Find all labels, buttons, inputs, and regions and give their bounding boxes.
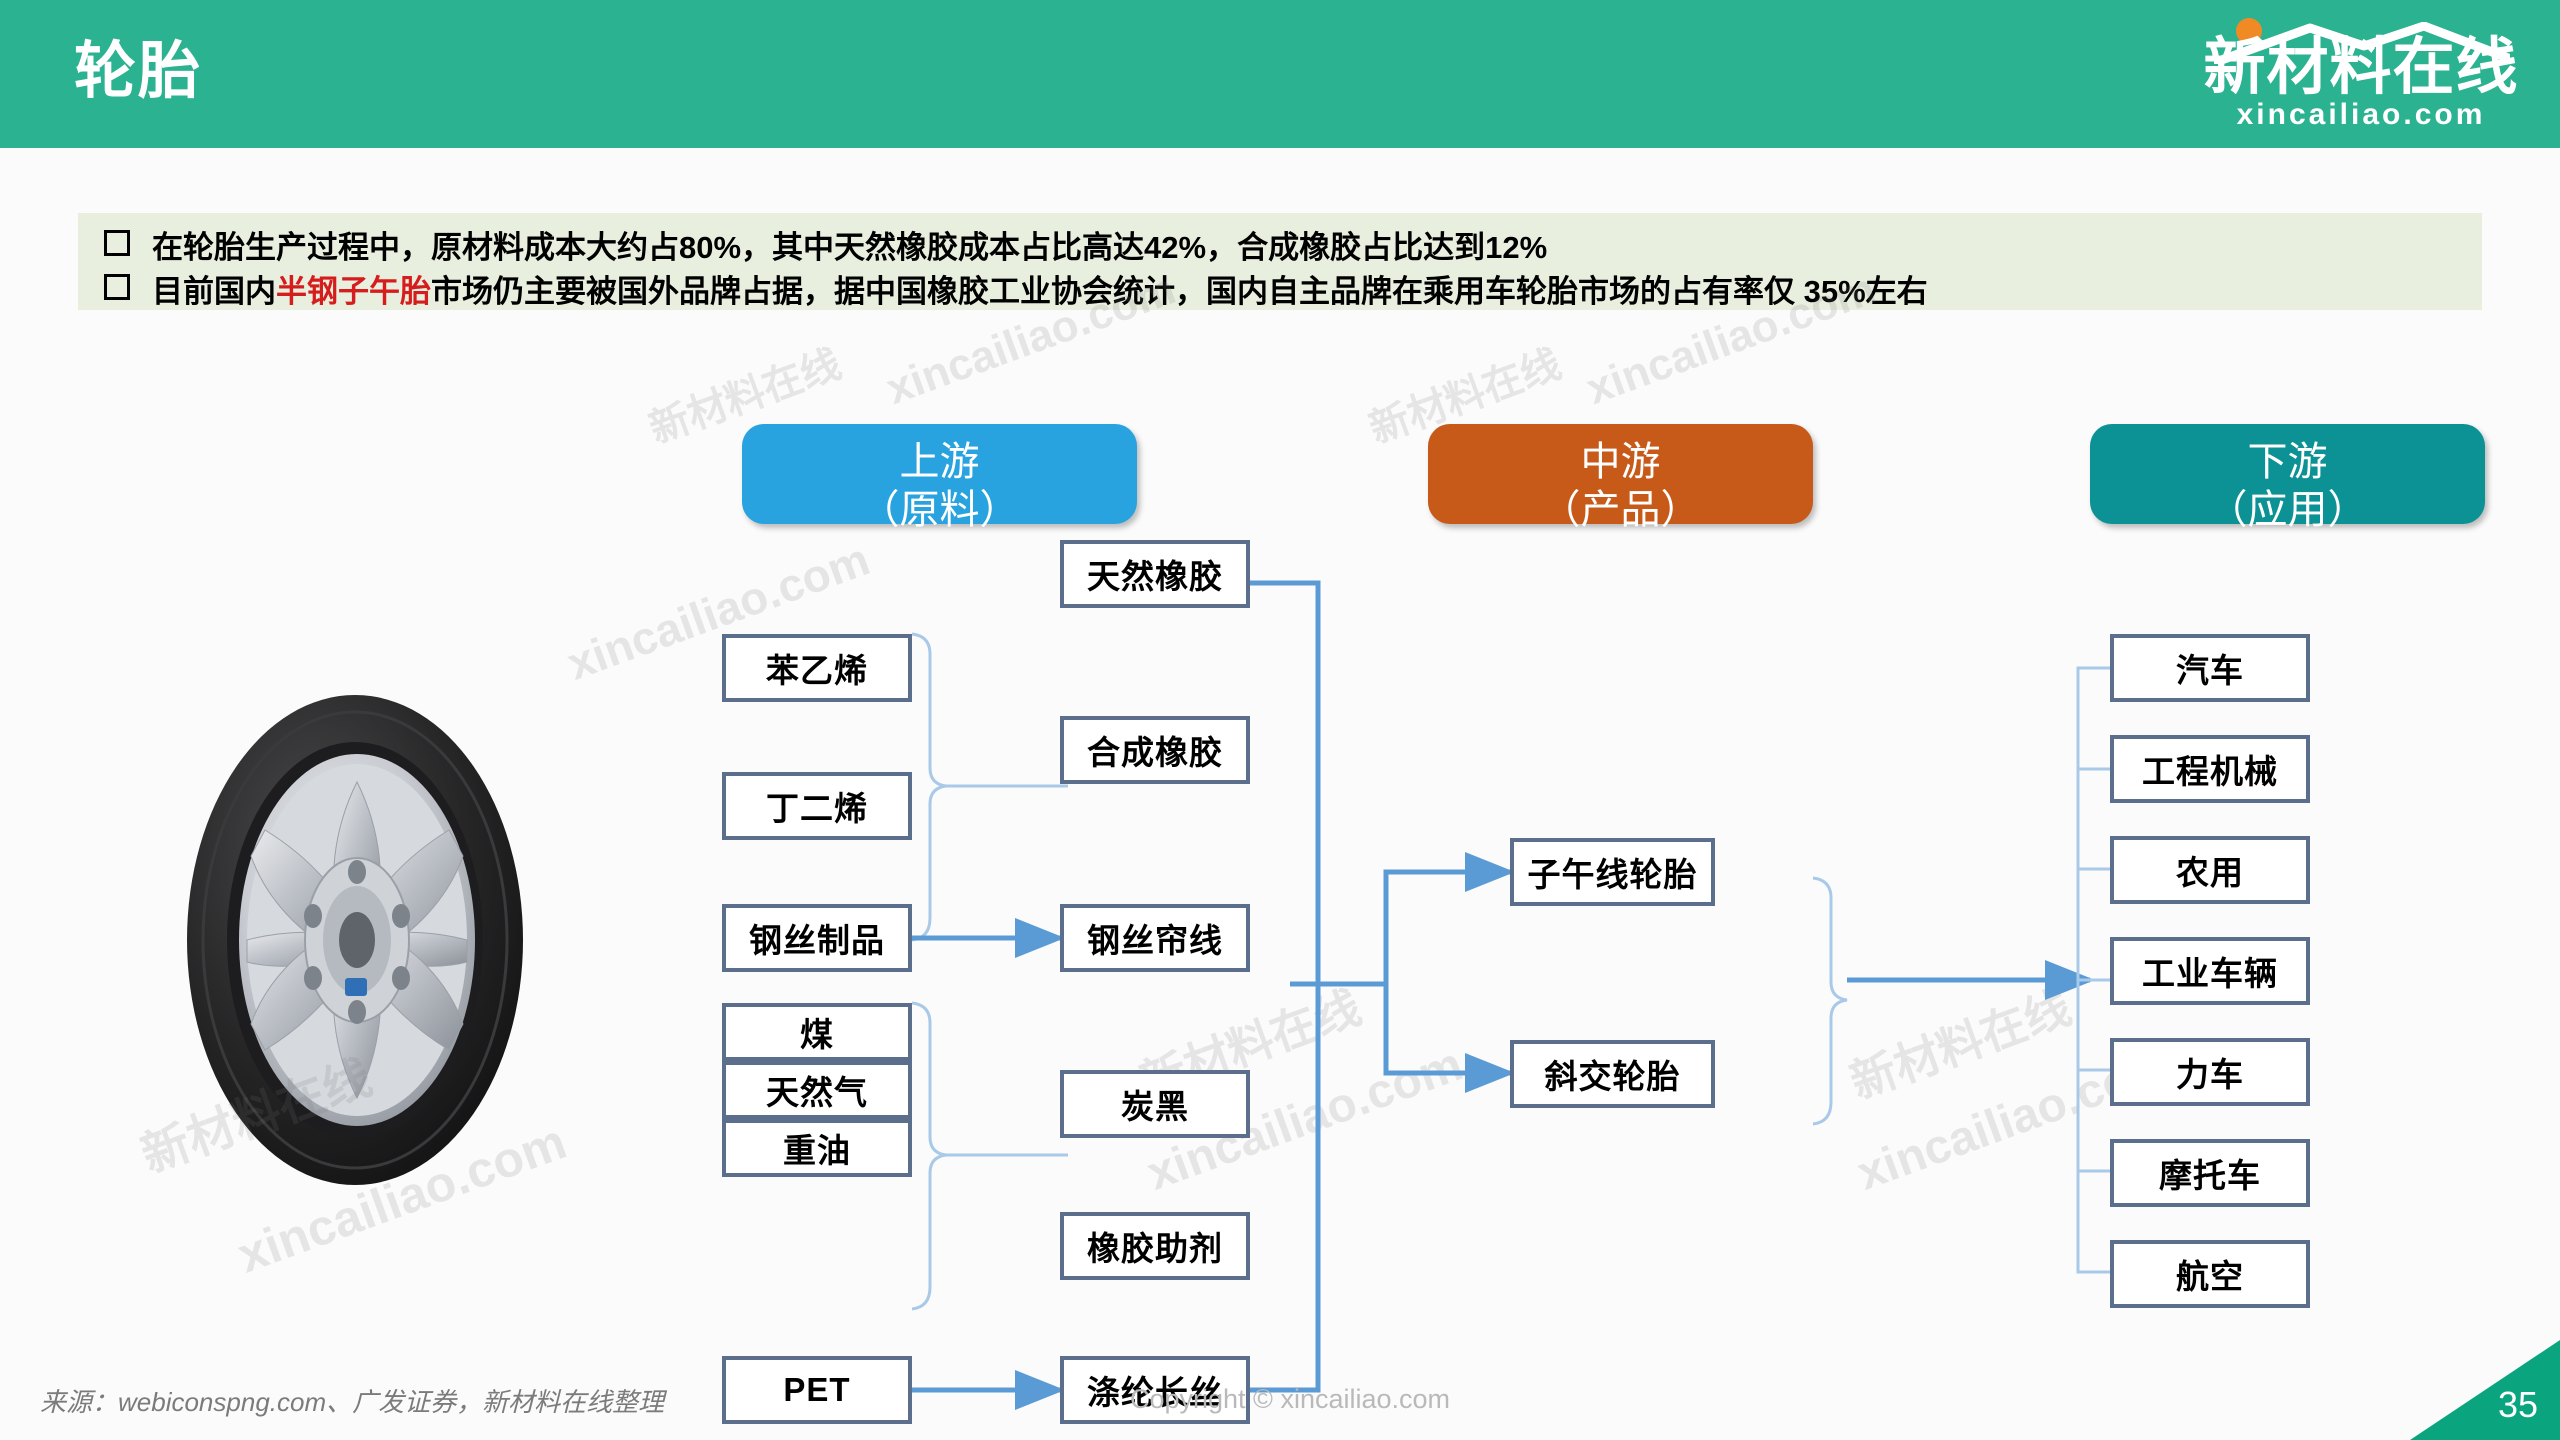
page-header: 轮胎 新材料在线 xincailiao.com xyxy=(0,0,2560,148)
node-zhongyou[interactable]: 重油 xyxy=(722,1119,912,1177)
node-xiangjiao-zhuji[interactable]: 橡胶助剂 xyxy=(1060,1212,1250,1280)
node-ziwuxian-luntai[interactable]: 子午线轮胎 xyxy=(1510,838,1715,906)
node-tanhei[interactable]: 炭黑 xyxy=(1060,1070,1250,1138)
node-liche[interactable]: 力车 xyxy=(2110,1038,2310,1106)
stage-header-midstream: 中游 （产品） xyxy=(1428,424,1813,524)
brand-logo: 新材料在线 xincailiao.com xyxy=(2196,6,2526,136)
node-pet[interactable]: PET xyxy=(722,1356,912,1424)
stage-upstream-line1: 上游 xyxy=(742,438,1137,486)
tyre-photo xyxy=(105,690,605,1190)
watermark-cn: 新材料在线 xyxy=(1840,971,2079,1112)
stage-downstream-line2: （应用） xyxy=(2090,486,2485,534)
bullet-item-1: 在轮胎生产过程中，原材料成本大约占80%，其中天然橡胶成本占比高达42%，合成橡… xyxy=(104,230,1547,265)
tyre-illustration-icon xyxy=(105,690,605,1190)
node-xiejiao-luntai[interactable]: 斜交轮胎 xyxy=(1510,1040,1715,1108)
stage-midstream-line1: 中游 xyxy=(1428,438,1813,486)
node-hangkong[interactable]: 航空 xyxy=(2110,1240,2310,1308)
stage-header-downstream: 下游 （应用） xyxy=(2090,424,2485,524)
node-gangsi-zhipin[interactable]: 钢丝制品 xyxy=(722,904,912,972)
copyright-note: Copyright © xincailiao.com xyxy=(1130,1384,1450,1415)
node-gangsi-lianxian[interactable]: 钢丝帘线 xyxy=(1060,904,1250,972)
node-qiche[interactable]: 汽车 xyxy=(2110,634,2310,702)
bullet-1-text: 在轮胎生产过程中，原材料成本大约占80%，其中天然橡胶成本占比高达42%，合成橡… xyxy=(152,230,1547,265)
page-title: 轮胎 xyxy=(74,24,202,120)
stage-downstream-line1: 下游 xyxy=(2090,438,2485,486)
node-mei[interactable]: 煤 xyxy=(722,1003,912,1061)
page-number: 35 xyxy=(2498,1384,2538,1426)
node-benyixi[interactable]: 苯乙烯 xyxy=(722,634,912,702)
node-nongyong[interactable]: 农用 xyxy=(2110,836,2310,904)
bullet-2-text-b: 市场仍主要被国外品牌占据，据中国橡胶工业协会统计，国内自主品牌在乘用车轮胎市场的… xyxy=(431,274,1928,309)
page-number-corner: 35 xyxy=(2410,1340,2560,1440)
stage-midstream-line2: （产品） xyxy=(1428,486,1813,534)
bullet-2-text-a: 目前国内 xyxy=(152,274,276,309)
bullet-square-icon xyxy=(104,230,130,256)
summary-callout: 在轮胎生产过程中，原材料成本大约占80%，其中天然橡胶成本占比高达42%，合成橡… xyxy=(78,213,2482,310)
bullet-square-icon xyxy=(104,274,130,300)
stage-upstream-line2: （原料） xyxy=(742,486,1137,534)
bullet-2-highlight: 半钢子午胎 xyxy=(276,274,431,309)
node-hecheng-xiangjiao[interactable]: 合成橡胶 xyxy=(1060,716,1250,784)
node-tianran-xiangjiao[interactable]: 天然橡胶 xyxy=(1060,540,1250,608)
node-tianranqi[interactable]: 天然气 xyxy=(722,1061,912,1119)
bullet-item-2: 目前国内半钢子午胎市场仍主要被国外品牌占据，据中国橡胶工业协会统计，国内自主品牌… xyxy=(104,274,1928,309)
source-note: 来源：webiconspng.com、广发证券，新材料在线整理 xyxy=(40,1382,664,1419)
node-motuoche[interactable]: 摩托车 xyxy=(2110,1139,2310,1207)
logo-domain-text: xincailiao.com xyxy=(2196,98,2526,132)
node-gongcheng-jixie[interactable]: 工程机械 xyxy=(2110,735,2310,803)
stage-header-upstream: 上游 （原料） xyxy=(742,424,1137,524)
logo-chinese-text: 新材料在线 xyxy=(2196,34,2526,102)
node-gongye-cheliang[interactable]: 工业车辆 xyxy=(2110,937,2310,1005)
node-dingerxi[interactable]: 丁二烯 xyxy=(722,772,912,840)
